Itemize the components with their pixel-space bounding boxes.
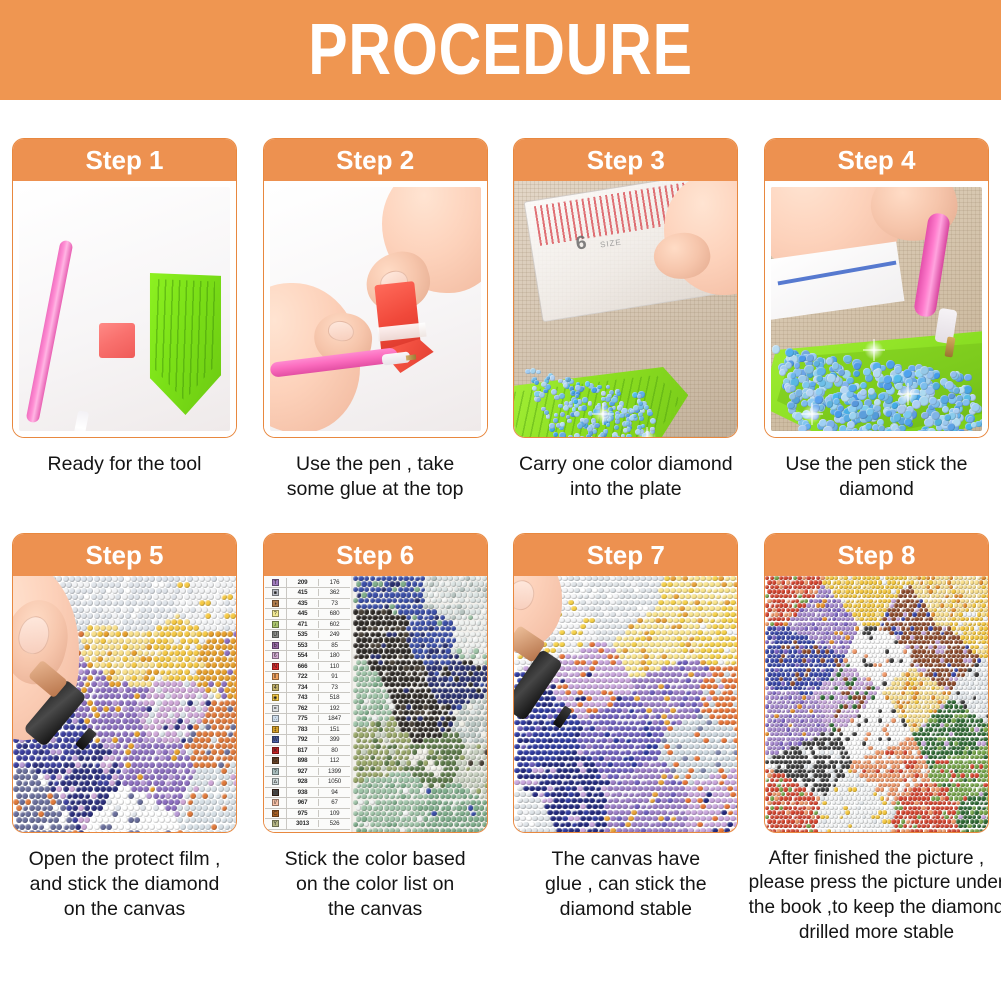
diamond-bead <box>47 817 53 823</box>
diamond-bead <box>372 772 377 777</box>
diamond-bead <box>451 794 456 799</box>
diamond-bead <box>586 768 592 774</box>
diamond-bead <box>143 749 149 755</box>
diamond-bead <box>128 594 134 600</box>
diamond-bead <box>94 774 100 780</box>
diamond-bead <box>607 642 613 648</box>
diamond-bead <box>459 788 464 793</box>
diamond-bead <box>118 588 124 594</box>
diamond-bead <box>652 696 658 702</box>
diamond-bead <box>434 749 439 754</box>
diamond-drill <box>790 372 797 379</box>
step-4-header-label: Step 4 <box>837 147 915 173</box>
diamond-bead <box>193 638 199 644</box>
diamond-bead <box>53 817 59 823</box>
step-1-card: Step 1 <box>12 138 237 438</box>
diamond-bead <box>395 648 400 653</box>
diamond-bead <box>156 625 162 631</box>
diamond-bead <box>448 811 453 816</box>
diamond-bead <box>149 700 155 706</box>
diamond-bead <box>115 768 121 774</box>
diamond-bead <box>691 582 697 588</box>
diamond-bead <box>370 688 375 693</box>
diamond-bead <box>479 704 484 709</box>
diamond-drill <box>843 355 852 364</box>
diamond-bead <box>208 656 214 662</box>
diamond-bead <box>426 744 431 749</box>
diamond-bead <box>565 630 571 636</box>
diamond-bead <box>456 716 461 721</box>
diamond-bead <box>370 788 375 793</box>
diamond-bead <box>456 760 461 765</box>
diamond-bead <box>367 828 372 832</box>
diamond-bead <box>700 660 706 666</box>
diamond-bead <box>482 788 487 793</box>
diamond-bead <box>137 737 143 743</box>
diamond-bead <box>565 762 571 768</box>
diamond-bead <box>215 718 221 724</box>
diamond-bead <box>398 788 403 793</box>
diamond-bead <box>372 626 377 631</box>
diamond-bead <box>112 687 118 693</box>
diamond-bead <box>718 576 724 582</box>
diamond-bead <box>667 702 673 708</box>
diamond-bead <box>535 714 541 720</box>
diamond-bead <box>375 688 380 693</box>
diamond-bead <box>162 687 168 693</box>
diamond-bead <box>156 576 162 582</box>
diamond-bead <box>361 660 366 665</box>
diamond-bead <box>66 755 72 761</box>
diamond-bead <box>721 690 727 696</box>
diamond-bead <box>358 732 363 737</box>
diamond-bead <box>227 619 233 625</box>
diamond-bead <box>721 714 727 720</box>
diamond-bead <box>196 706 202 712</box>
diamond-bead <box>574 708 580 714</box>
diamond-bead <box>97 582 103 588</box>
diamond-bead <box>168 811 174 817</box>
diamond-bead <box>718 672 724 678</box>
diamond-bead <box>100 638 106 644</box>
diamond-bead <box>128 681 134 687</box>
diamond-bead <box>190 793 196 799</box>
step-1-scene <box>19 187 230 431</box>
diamond-bead <box>652 660 658 666</box>
diamond-bead <box>682 744 688 750</box>
diamond-bead <box>646 708 652 714</box>
diamond-bead <box>670 744 676 750</box>
diamond-drill <box>573 399 578 404</box>
diamond-bead <box>470 620 475 625</box>
diamond-bead <box>428 615 433 620</box>
diamond-bead <box>583 702 589 708</box>
diamond-bead <box>384 738 389 743</box>
diamond-bead <box>712 660 718 666</box>
diamond-bead <box>403 811 408 816</box>
diamond-bead <box>224 799 230 805</box>
diamond-bead <box>78 718 84 724</box>
diamond-bead <box>586 648 592 654</box>
legend-count: 249 <box>319 631 350 638</box>
diamond-bead <box>56 774 62 780</box>
diamond-bead <box>459 587 464 592</box>
diamond-bead <box>72 817 78 823</box>
diamond-bead <box>187 687 193 693</box>
diamond-bead <box>412 738 417 743</box>
step-5-photo <box>13 576 236 832</box>
diamond-bead <box>482 620 487 625</box>
diamond-bead <box>159 793 165 799</box>
diamond-bead <box>97 768 103 774</box>
diamond-bead <box>440 716 445 721</box>
diamond-bead <box>465 777 470 782</box>
diamond-bead <box>389 648 394 653</box>
diamond-bead <box>476 632 481 637</box>
diamond-bead <box>221 669 227 675</box>
diamond-bead <box>661 714 667 720</box>
diamond-bead <box>709 654 715 660</box>
diamond-bead <box>634 708 640 714</box>
diamond-bead <box>476 710 481 715</box>
diamond-bead <box>398 676 403 681</box>
diamond-bead <box>622 708 628 714</box>
diamond-bead <box>640 744 646 750</box>
diamond-bead <box>456 648 461 653</box>
diamond-bead <box>392 609 397 614</box>
diamond-bead <box>358 688 363 693</box>
diamond-bead <box>532 756 538 762</box>
diamond-bead <box>565 654 571 660</box>
diamond-bead <box>63 774 69 780</box>
diamond-bead <box>409 654 414 659</box>
diamond-bead <box>482 811 487 816</box>
diamond-bead <box>356 592 361 597</box>
diamond-bead <box>196 631 202 637</box>
diamond-bead <box>412 794 417 799</box>
diamond-bead <box>468 828 473 832</box>
diamond-bead <box>445 805 450 810</box>
diamond-bead <box>646 624 652 630</box>
diamond-bead <box>420 710 425 715</box>
diamond-bead <box>733 642 737 648</box>
diamond-bead <box>697 654 703 660</box>
diamond-bead <box>177 743 183 749</box>
diamond-bead <box>476 598 481 603</box>
diamond-bead <box>679 750 685 756</box>
diamond-bead <box>146 830 152 832</box>
diamond-bead <box>358 643 363 648</box>
diamond-bead <box>168 700 174 706</box>
diamond-drill <box>772 345 780 353</box>
diamond-bead <box>106 638 112 644</box>
diamond-bead <box>613 702 619 708</box>
diamond-bead <box>649 654 655 660</box>
diamond-bead <box>35 755 41 761</box>
diamond-bead <box>448 822 453 827</box>
diamond-bead <box>109 582 115 588</box>
diamond-bead <box>370 699 375 704</box>
diamond-bead <box>442 620 447 625</box>
diamond-drill <box>838 369 845 376</box>
diamond-bead <box>56 799 62 805</box>
diamond-bead <box>32 799 38 805</box>
diamond-bead <box>459 676 464 681</box>
diamond-bead <box>643 618 649 624</box>
diamond-bead <box>156 675 162 681</box>
diamond-bead <box>658 636 664 642</box>
legend-row: ‡783151 <box>265 725 350 736</box>
diamond-bead <box>580 720 586 726</box>
diamond-bead <box>100 675 106 681</box>
diamond-bead <box>361 693 366 698</box>
diamond-bead <box>721 606 727 612</box>
diamond-bead <box>652 600 658 606</box>
diamond-bead <box>613 606 619 612</box>
diamond-bead <box>211 675 217 681</box>
diamond-bead <box>727 714 733 720</box>
diamond-bead <box>730 672 736 678</box>
diamond-bead <box>392 710 397 715</box>
step-2-card: Step 2 <box>263 138 488 438</box>
diamond-bead <box>715 762 721 768</box>
diamond-bead <box>598 636 604 642</box>
diamond-bead <box>159 743 165 749</box>
diamond-bead <box>580 636 586 642</box>
diamond-bead <box>215 743 221 749</box>
legend-dmc-code: 722 <box>287 673 319 680</box>
diamond-bead <box>568 756 574 762</box>
diamond-bead <box>361 648 366 653</box>
diamond-bead <box>434 828 439 832</box>
diamond-bead <box>574 660 580 666</box>
diamond-bead <box>22 793 28 799</box>
step-6-header: Step 6 <box>264 534 487 576</box>
diamond-bead <box>619 702 625 708</box>
diamond-bead <box>733 738 737 744</box>
diamond-bead <box>431 654 436 659</box>
diamond-bead <box>468 626 473 631</box>
legend-dmc-code: 471 <box>287 621 319 628</box>
diamond-bead <box>25 762 31 768</box>
diamond-bead <box>706 612 712 618</box>
diamond-bead <box>78 817 84 823</box>
diamond-bead <box>426 576 431 581</box>
diamond-bead <box>409 643 414 648</box>
diamond-bead <box>622 720 628 726</box>
diamond-bead <box>94 613 100 619</box>
diamond-bead <box>208 731 214 737</box>
diamond-bead <box>356 760 361 765</box>
diamond-bead <box>140 669 146 675</box>
diamond-bead <box>106 613 112 619</box>
diamond-bead <box>63 749 69 755</box>
diamond-bead <box>137 811 143 817</box>
diamond-bead <box>165 718 171 724</box>
diamond-bead <box>97 594 103 600</box>
diamond-bead <box>395 749 400 754</box>
diamond-bead <box>356 828 361 832</box>
diamond-drill <box>945 381 954 390</box>
diamond-bead <box>118 762 124 768</box>
diamond-bead <box>403 665 408 670</box>
diamond-bead <box>733 630 737 636</box>
diamond-bead <box>685 606 691 612</box>
diamond-bead <box>370 710 375 715</box>
diamond-bead <box>199 638 205 644</box>
diamond-bead <box>193 650 199 656</box>
diamond-bead <box>367 604 372 609</box>
diamond-bead <box>406 749 411 754</box>
diamond-bead <box>414 632 419 637</box>
diamond-bead <box>688 660 694 666</box>
diamond-bead <box>140 619 146 625</box>
diamond-bead <box>165 656 171 662</box>
diamond-bead <box>75 824 81 830</box>
diamond-bead <box>426 598 431 603</box>
diamond-bead <box>676 612 682 618</box>
diamond-bead <box>556 696 562 702</box>
diamond-bead <box>361 637 366 642</box>
diamond-bead <box>403 587 408 592</box>
diamond-bead <box>230 799 236 805</box>
diamond-bead <box>604 756 610 762</box>
diamond-bead <box>431 643 436 648</box>
diamond-bead <box>190 681 196 687</box>
diamond-drill <box>635 429 641 435</box>
diamond-bead <box>454 676 459 681</box>
diamond-bead <box>417 682 422 687</box>
diamond-bead <box>78 594 84 600</box>
legend-row: U535249 <box>265 630 350 641</box>
diamond-bead <box>625 750 631 756</box>
diamond-bead <box>29 830 35 832</box>
diamond-bead <box>625 714 631 720</box>
diamond-bead <box>703 618 709 624</box>
diamond-drill <box>898 396 907 405</box>
diamond-bead <box>583 594 589 600</box>
diamond-bead <box>364 665 369 670</box>
diamond-bead <box>417 604 422 609</box>
diamond-bead <box>91 594 97 600</box>
diamond-bead <box>205 675 211 681</box>
diamond-bead <box>112 700 118 706</box>
diamond-bead <box>125 600 131 606</box>
diamond-bead <box>715 714 721 720</box>
diamond-bead <box>193 799 199 805</box>
diamond-bead <box>389 660 394 665</box>
diamond-bead <box>445 581 450 586</box>
diamond-bead <box>177 656 183 662</box>
diamond-bead <box>598 732 604 738</box>
diamond-drill <box>559 393 565 399</box>
diamond-bead <box>428 671 433 676</box>
diamond-bead <box>580 624 586 630</box>
diamond-bead <box>727 642 733 648</box>
diamond-bead <box>482 665 487 670</box>
diamond-bead <box>134 768 140 774</box>
diamond-bead <box>97 793 103 799</box>
diamond-bead <box>431 620 436 625</box>
diamond-bead <box>50 774 56 780</box>
diamond-bead <box>149 811 155 817</box>
diamond-bead <box>571 690 577 696</box>
diamond-bead <box>482 688 487 693</box>
diamond-bead <box>727 762 733 768</box>
diamond-bead <box>91 768 97 774</box>
diamond-bead <box>670 672 676 678</box>
diamond-bead <box>470 721 475 726</box>
diamond-bead <box>428 592 433 597</box>
diamond-bead <box>227 830 233 832</box>
diamond-bead <box>358 576 363 581</box>
diamond-bead <box>733 762 737 768</box>
diamond-bead <box>215 631 221 637</box>
diamond-bead <box>205 625 211 631</box>
diamond-bead <box>406 682 411 687</box>
diamond-bead <box>476 643 481 648</box>
diamond-bead <box>75 576 81 582</box>
diamond-bead <box>187 749 193 755</box>
diamond-bead <box>574 648 580 654</box>
diamond-bead <box>562 588 568 594</box>
diamond-bead <box>187 675 193 681</box>
diamond-bead <box>230 774 236 780</box>
diamond-bead <box>202 582 208 588</box>
diamond-bead <box>484 581 486 586</box>
diamond-bead <box>445 682 450 687</box>
diamond-bead <box>122 731 128 737</box>
legend-dmc-code: 554 <box>287 652 319 659</box>
diamond-bead <box>60 817 66 823</box>
diamond-bead <box>414 609 419 614</box>
diamond-bead <box>412 828 417 832</box>
diamond-bead <box>440 615 445 620</box>
diamond-drill <box>606 423 610 427</box>
diamond-bead <box>598 576 604 582</box>
diamond-bead <box>547 714 553 720</box>
diamond-bead <box>221 693 227 699</box>
diamond-bead <box>140 607 146 613</box>
diamond-bead <box>115 743 121 749</box>
diamond-bead <box>381 788 386 793</box>
diamond-bead <box>715 690 721 696</box>
diamond-bead <box>682 756 688 762</box>
diamond-bead <box>180 811 186 817</box>
diamond-bead <box>103 631 109 637</box>
diamond-bead <box>562 576 568 582</box>
diamond-bead <box>403 598 408 603</box>
diamond-bead <box>159 656 165 662</box>
diamond-bead <box>697 726 703 732</box>
diamond-bead <box>454 732 459 737</box>
diamond-bead <box>431 811 436 816</box>
diamond-bead <box>165 731 171 737</box>
diamond-bead <box>479 760 484 765</box>
diamond-bead <box>736 696 737 702</box>
diamond-bead <box>29 793 35 799</box>
diamond-bead <box>149 662 155 668</box>
diamond-bead <box>445 615 450 620</box>
diamond-bead <box>180 675 186 681</box>
diamond-bead <box>153 755 159 761</box>
diamond-bead <box>395 615 400 620</box>
diamond-bead <box>556 732 562 738</box>
diamond-bead <box>395 660 400 665</box>
diamond-bead <box>358 620 363 625</box>
diamond-bead <box>619 630 625 636</box>
diamond-bead <box>72 768 78 774</box>
